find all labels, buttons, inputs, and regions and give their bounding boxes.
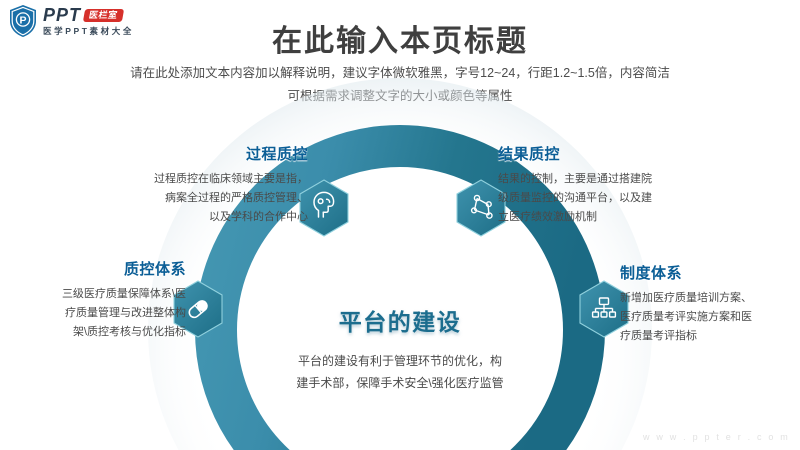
info-block-result: 结果质控 结果的控制，主要是通过搭建院 级质量监控的沟通平台，以及建 立医疗绩效… bbox=[498, 143, 698, 227]
info-block-rule-body: 新增加医疗质量培训方案、 医疗质量考评实施方案和医 疗质量考评指标 bbox=[620, 289, 798, 346]
site-watermark: w w w . p p t e r . c o m bbox=[643, 432, 790, 442]
info-block-rule-heading: 制度体系 bbox=[620, 262, 798, 283]
info-block-system: 质控体系 三级医疗质量保障体系\医 疗质量管理与改进整体构 架\质控考核与优化指… bbox=[8, 258, 186, 342]
body-line: 三级医疗质量保障体系\医 bbox=[8, 285, 186, 304]
info-block-result-heading: 结果质控 bbox=[498, 143, 698, 164]
center-body: 平台的建设有利于管理环节的优化，构 建手术部，保障手术安全\强化医疗监管 bbox=[260, 350, 540, 394]
center-block: 平台的建设 平台的建设有利于管理环节的优化，构 建手术部，保障手术安全\强化医疗… bbox=[260, 303, 540, 394]
body-line: 过程质控在临床领域主要是指， bbox=[108, 170, 308, 189]
center-body-line: 建手术部，保障手术安全\强化医疗监管 bbox=[260, 372, 540, 394]
body-line: 疗质量管理与改进整体构 bbox=[8, 304, 186, 323]
subtitle-line-1: 请在此处添加文本内容加以解释说明，建议字体微软雅黑，字号12~24，行距1.2~… bbox=[0, 62, 800, 85]
slide-canvas: P PPT 医栏室 医学PPT素材大全 在此输入本页标题 请在此处添加文本内容加… bbox=[0, 0, 800, 450]
page-subtitle: 请在此处添加文本内容加以解释说明，建议字体微软雅黑，字号12~24，行距1.2~… bbox=[0, 62, 800, 108]
body-line: 以及学科的合作中心 bbox=[108, 208, 308, 227]
body-line: 级质量监控的沟通平台，以及建 bbox=[498, 189, 698, 208]
body-line: 架\质控考核与优化指标 bbox=[8, 323, 186, 342]
center-body-line: 平台的建设有利于管理环节的优化，构 bbox=[260, 350, 540, 372]
info-block-result-body: 结果的控制，主要是通过搭建院 级质量监控的沟通平台，以及建 立医疗绩效激励机制 bbox=[498, 170, 698, 227]
body-line: 结果的控制，主要是通过搭建院 bbox=[498, 170, 698, 189]
info-block-process-heading: 过程质控 bbox=[108, 143, 308, 164]
body-line: 病案全过程的严格质控管理、 bbox=[108, 189, 308, 208]
info-block-system-heading: 质控体系 bbox=[8, 258, 186, 279]
info-block-process: 过程质控 过程质控在临床领域主要是指， 病案全过程的严格质控管理、 以及学科的合… bbox=[108, 143, 308, 227]
info-block-system-body: 三级医疗质量保障体系\医 疗质量管理与改进整体构 架\质控考核与优化指标 bbox=[8, 285, 186, 342]
body-line: 新增加医疗质量培训方案、 bbox=[620, 289, 798, 308]
page-title: 在此输入本页标题 bbox=[0, 16, 800, 60]
info-block-process-body: 过程质控在临床领域主要是指， 病案全过程的严格质控管理、 以及学科的合作中心 bbox=[108, 170, 308, 227]
body-line: 立医疗绩效激励机制 bbox=[498, 208, 698, 227]
body-line: 医疗质量考评实施方案和医 bbox=[620, 308, 798, 327]
center-heading: 平台的建设 bbox=[260, 303, 540, 337]
info-block-rule: 制度体系 新增加医疗质量培训方案、 医疗质量考评实施方案和医 疗质量考评指标 bbox=[620, 262, 798, 346]
subtitle-line-2: 可根据需求调整文字的大小或颜色等属性 bbox=[0, 85, 800, 108]
body-line: 疗质量考评指标 bbox=[620, 327, 798, 346]
